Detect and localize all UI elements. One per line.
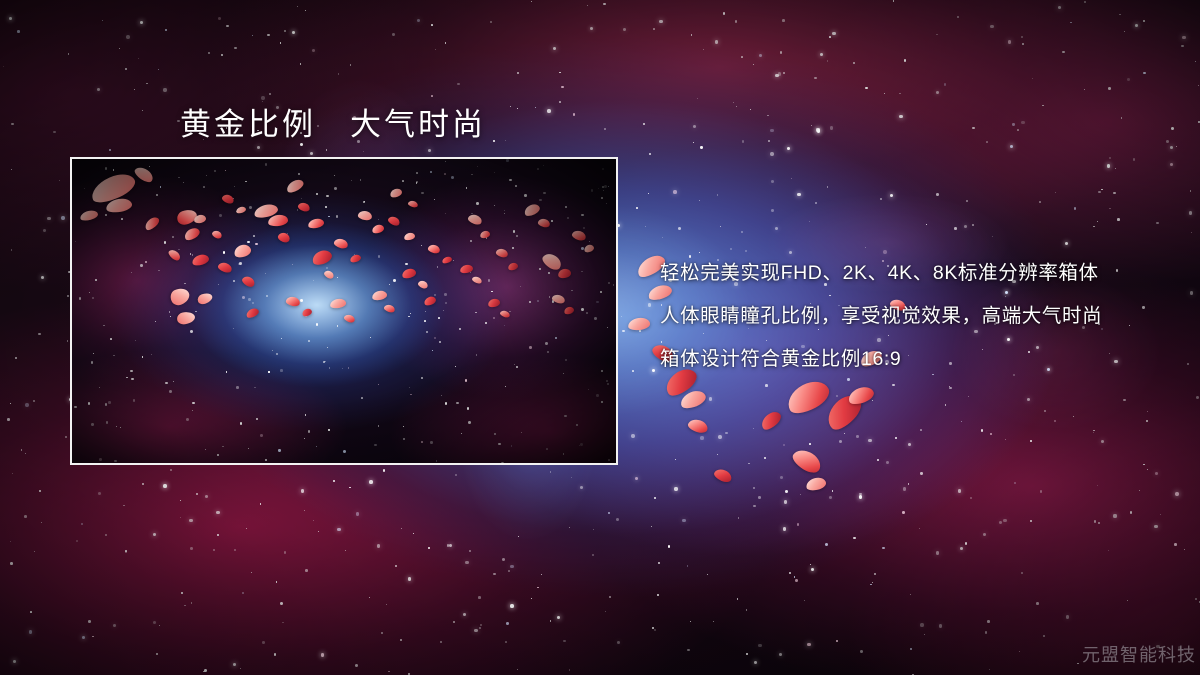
photo-petals bbox=[72, 159, 616, 463]
slide-canvas: 黄金比例 大气时尚 轻松完美实现FHD、2K、4K、8K标准分辨率箱体 人体眼睛… bbox=[0, 0, 1200, 675]
photo-starfield bbox=[72, 159, 616, 463]
photo-image bbox=[72, 159, 616, 463]
photo-nebula-layer bbox=[72, 159, 616, 463]
page-title: 黄金比例 大气时尚 bbox=[180, 99, 486, 144]
watermark: 元盟智能科技 bbox=[1082, 641, 1196, 667]
body-line-3: 箱体设计符合黄金比例16:9 bbox=[660, 338, 1180, 381]
body-line-2: 人体眼睛瞳孔比例，享受视觉效果，高端大气时尚 bbox=[660, 295, 1180, 338]
body-line-1: 轻松完美实现FHD、2K、4K、8K标准分辨率箱体 bbox=[660, 252, 1180, 295]
framed-photo-panel bbox=[70, 157, 618, 465]
body-copy: 轻松完美实现FHD、2K、4K、8K标准分辨率箱体 人体眼睛瞳孔比例，享受视觉效… bbox=[660, 252, 1180, 381]
photo-vignette bbox=[72, 159, 616, 463]
